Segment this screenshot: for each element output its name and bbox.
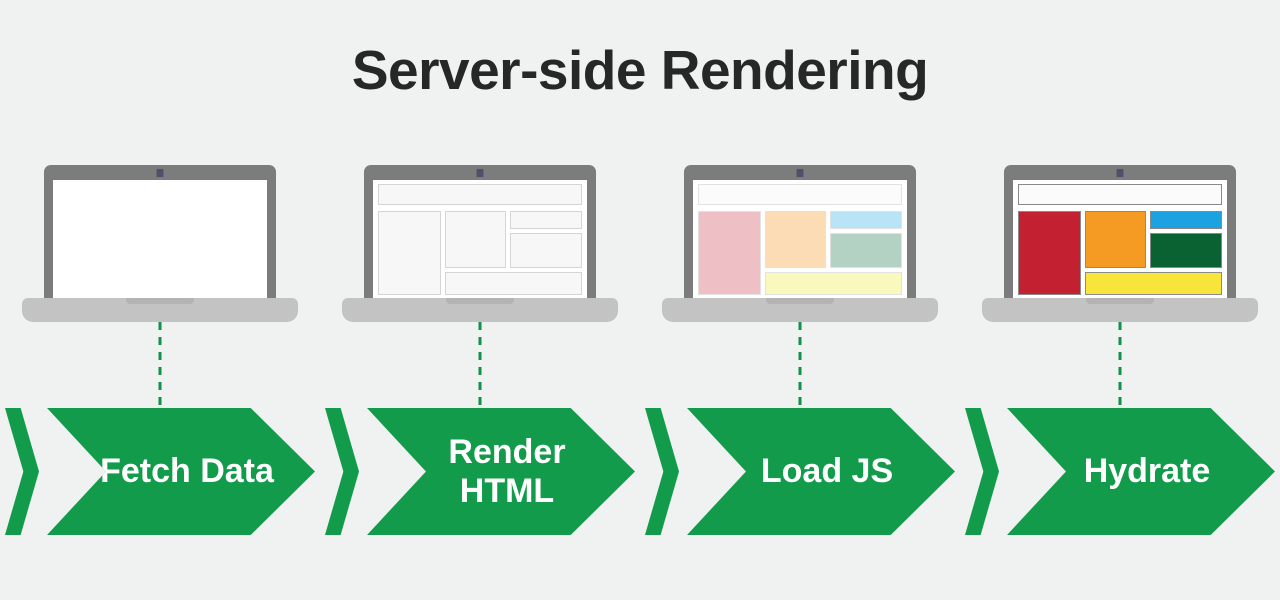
laptop-illustration-1 [22,155,298,322]
arrow-body: Fetch Data [47,408,315,535]
screen-block-bottom-bar [765,272,902,295]
arrow-body: Hydrate [1007,408,1275,535]
laptop-screen [53,180,267,299]
screen-block-right-bottom [830,233,902,268]
screen-block-right-bottom [1150,233,1222,268]
laptop-illustration-3 [662,155,938,322]
laptop-screen [1013,180,1227,299]
laptop-screen [693,180,907,299]
screen-block-bottom-bar [1085,272,1222,295]
screen-block-center [1085,211,1146,268]
stage-banner[interactable]: Load JS [645,408,955,535]
laptop-lid [364,165,596,307]
connector-line [159,322,162,410]
screen-block-left-column [1018,211,1081,295]
screen-block-bottom-bar [445,272,582,295]
chevron-arrow-icon [645,408,679,535]
stage-banner[interactable]: Hydrate [965,408,1275,535]
stage-hydrate: Hydrate [960,155,1280,555]
stage-banner[interactable]: Render HTML [325,408,635,535]
chevron-arrow-icon [5,408,39,535]
screen-block-right-top [1150,211,1222,229]
webcam-icon [1117,169,1124,177]
screen-block-right-top [830,211,902,229]
stage-label: Render HTML [414,433,587,511]
laptop-base [22,298,298,322]
webcam-icon [477,169,484,177]
page-title: Server-side Rendering [0,40,1280,101]
laptop-illustration-2 [342,155,618,322]
laptop-lid [684,165,916,307]
stage-banner[interactable]: Fetch Data [5,408,315,535]
screen-block-left-column [698,211,761,295]
laptop-base [982,298,1258,322]
laptop-illustration-4 [982,155,1258,322]
laptop-base [342,298,618,322]
stage-render-html: Render HTML [320,155,640,555]
laptop-screen [373,180,587,299]
screen-block-left-column [378,211,441,295]
screen-block-center [765,211,826,268]
stage-load-js: Load JS [640,155,960,555]
stage-row: Fetch Data [0,155,1280,555]
stage-label: Load JS [727,452,915,491]
screen-block-right-top [510,211,582,229]
screen-block-center [445,211,506,268]
screen-block-topbar [1018,184,1222,205]
chevron-arrow-icon [965,408,999,535]
stage-label: Hydrate [1050,452,1233,491]
screen-block-right-bottom [510,233,582,268]
laptop-base [662,298,938,322]
arrow-body: Render HTML [367,408,635,535]
arrow-body: Load JS [687,408,955,535]
ssr-infographic: Server-side Rendering Fetch Data [0,0,1280,600]
connector-line [799,322,802,410]
laptop-lid [1004,165,1236,307]
connector-line [479,322,482,410]
chevron-arrow-icon [325,408,359,535]
stage-label: Fetch Data [66,452,296,491]
webcam-icon [157,169,164,177]
webcam-icon [797,169,804,177]
laptop-lid [44,165,276,307]
connector-line [1119,322,1122,410]
stage-fetch-data: Fetch Data [0,155,320,555]
screen-block-topbar [698,184,902,205]
screen-block-topbar [378,184,582,205]
